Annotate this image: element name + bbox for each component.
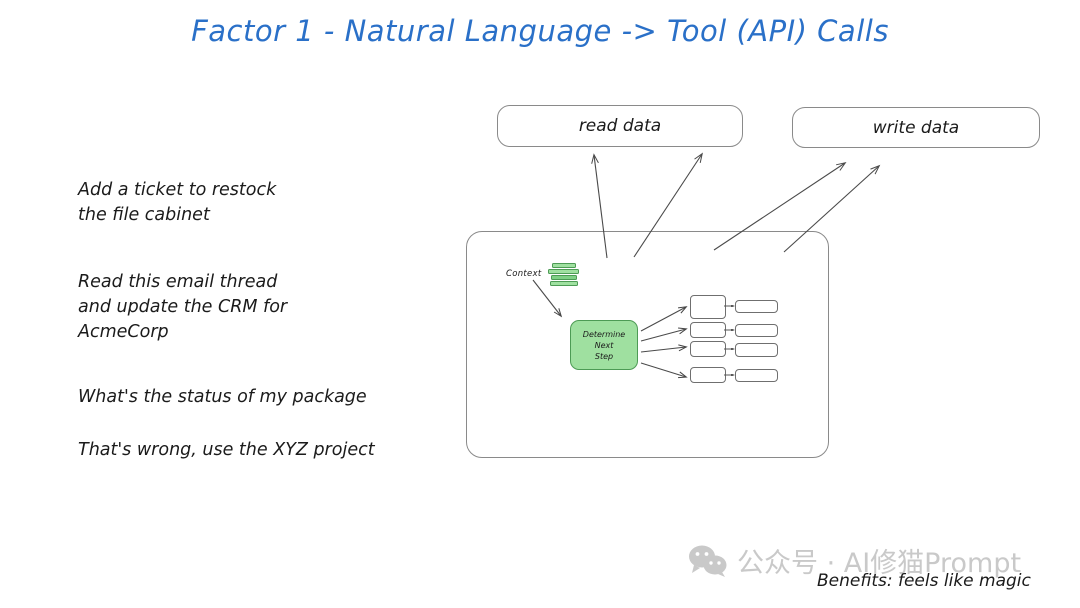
prompt-example-4: That's wrong, use the XYZ project [78, 438, 448, 463]
output-connector-arrow-icon [724, 374, 735, 376]
output-row [690, 322, 780, 338]
context-stack-bar [551, 275, 577, 280]
output-box-primary [690, 367, 726, 383]
decision-node-line-2: Next [595, 340, 614, 351]
benefits-note: Benefits: feels like magic [817, 571, 1031, 591]
decision-node-line-1: Determine [583, 329, 625, 340]
page-title: Factor 1 - Natural Language -> Tool (API… [0, 14, 1080, 48]
output-row [690, 341, 780, 357]
tool-box-read-data: read data [497, 105, 743, 147]
prompt-example-3: What's the status of my package [78, 385, 448, 410]
decision-node-line-3: Step [595, 351, 613, 362]
output-box-secondary [735, 300, 778, 313]
output-box-secondary [735, 343, 778, 357]
prompt-example-1: Add a ticket to restock the file cabinet [78, 178, 448, 228]
output-box-secondary [735, 369, 778, 382]
output-row [690, 367, 780, 383]
determine-next-step-node: Determine Next Step [570, 320, 638, 370]
output-connector-arrow-icon [724, 348, 735, 350]
output-connector-arrow-icon [724, 329, 735, 331]
context-stack-icon [548, 263, 580, 289]
context-stack-bar [552, 263, 576, 268]
output-box-primary [690, 341, 726, 357]
output-connector-arrow-icon [724, 305, 735, 307]
output-box-secondary [735, 324, 778, 337]
wechat-icon [688, 544, 728, 577]
prompt-example-2: Read this email thread and update the CR… [78, 270, 448, 345]
prompt-examples-list: Add a ticket to restock the file cabinet… [78, 178, 448, 463]
output-row [690, 295, 780, 319]
context-stack-bar [548, 269, 579, 274]
context-label: Context [506, 269, 542, 279]
output-box-primary [690, 295, 726, 319]
output-box-primary [690, 322, 726, 338]
tool-box-write-data: write data [792, 107, 1040, 148]
context-stack-bar [550, 281, 578, 286]
